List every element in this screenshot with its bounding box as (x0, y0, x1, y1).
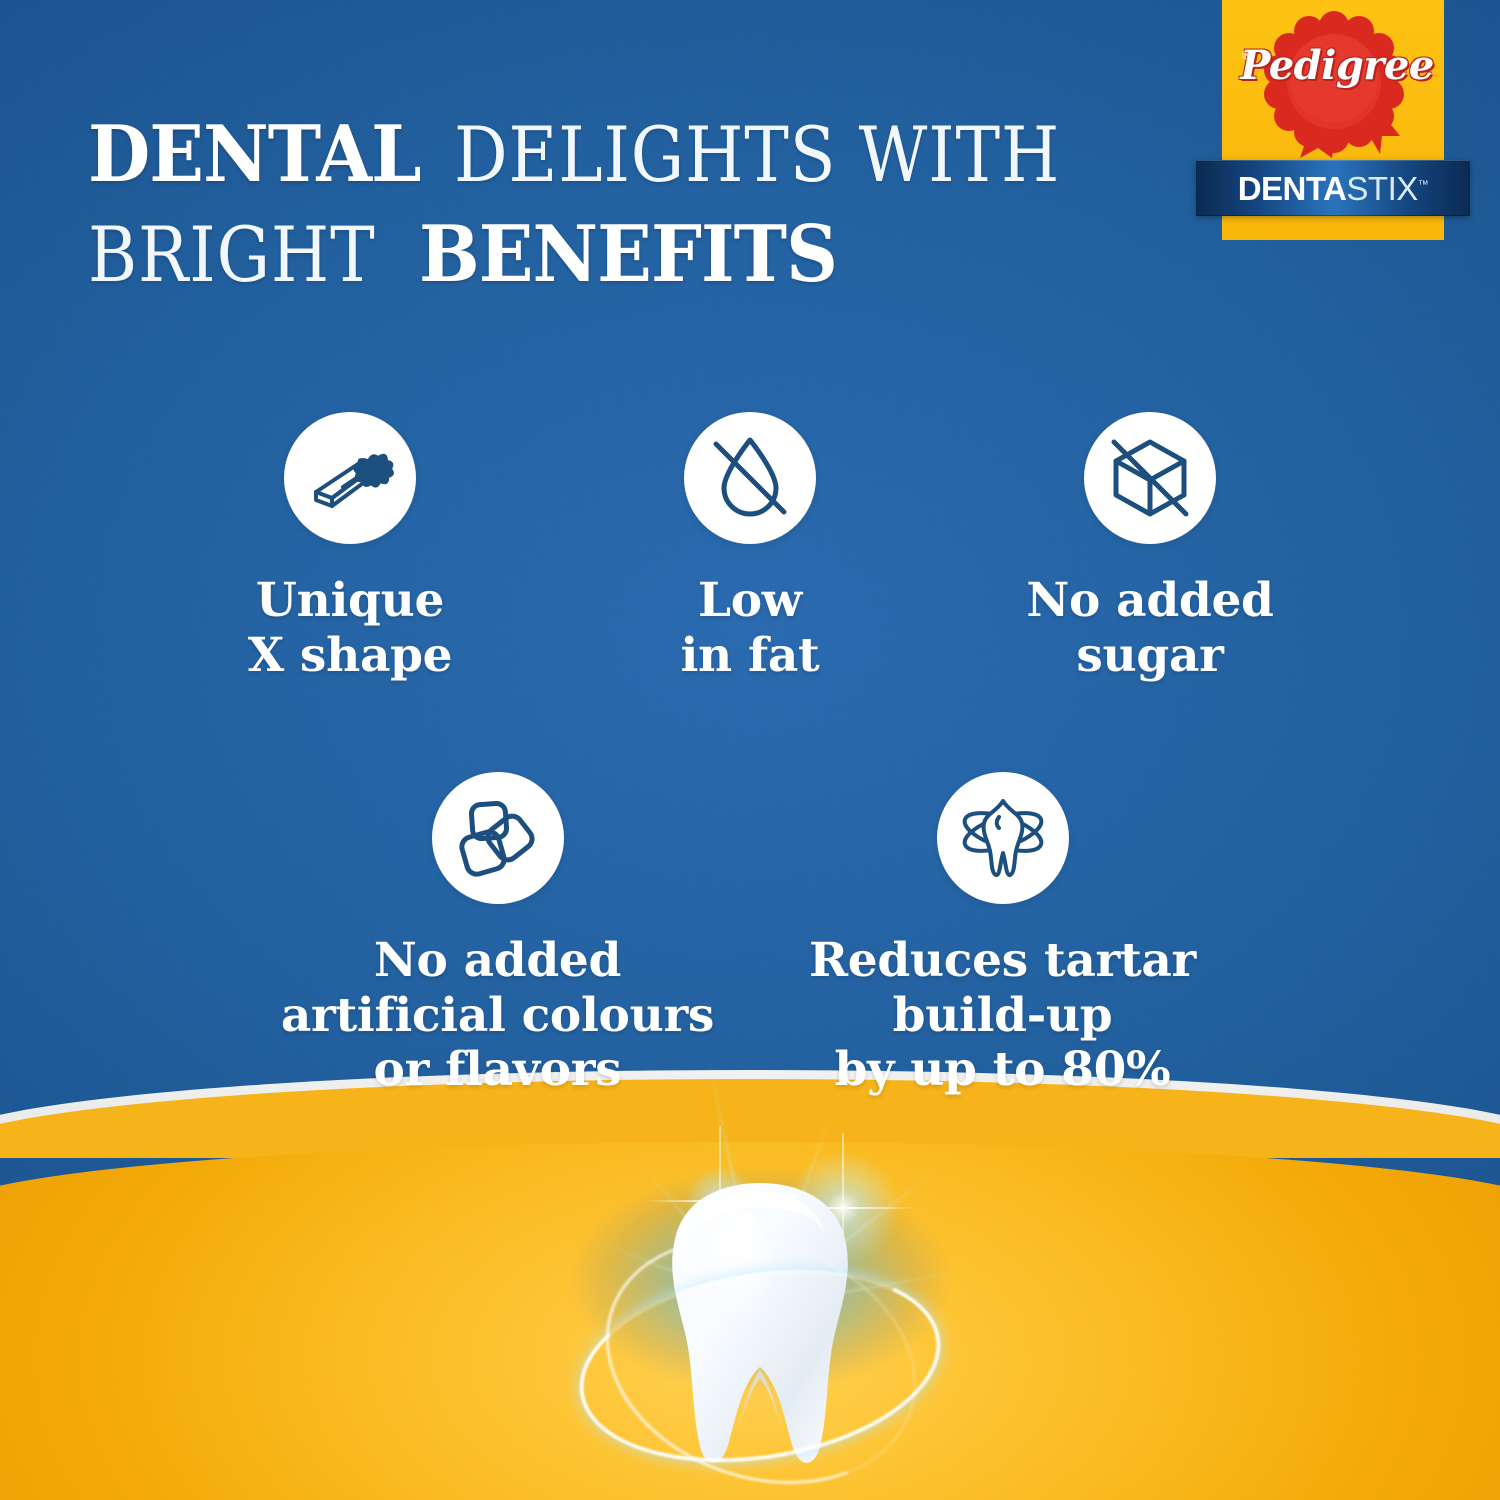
headline-word-dental: DENTAL (88, 118, 421, 192)
benefit-low-in-fat: Low in fat (550, 412, 950, 683)
headline-word-delights-with: DELIGHTS WITH (454, 119, 1060, 191)
no-artificial-colours-icon (432, 772, 564, 904)
headline-line-1: DENTAL DELIGHTS WITH (88, 118, 1148, 192)
pedigree-wordmark: Pedigree (1226, 46, 1448, 86)
benefit-label: No added artificial colours or flavors (281, 934, 714, 1098)
brand-lockup: Pedigree ® DENTASTIX™ (1222, 0, 1444, 240)
headline-word-benefits: BENEFITS (419, 218, 837, 292)
benefit-label: Low in fat (681, 574, 820, 683)
dentastix-benefits-poster: DENTAL DELIGHTS WITH BRIGHT BENEFITS (0, 0, 1500, 1500)
no-fat-droplet-icon (684, 412, 816, 544)
benefit-no-artificial-colours: No added artificial colours or flavors (245, 772, 750, 1098)
benefit-reduces-tartar: Reduces tartar build-up by up to 80% (750, 772, 1255, 1098)
benefit-label: Unique X shape (248, 574, 453, 683)
benefit-label: No added sugar (1026, 574, 1273, 683)
dentastix-logo-band: DENTASTIX™ (1196, 160, 1470, 216)
headline-word-bright: BRIGHT (88, 219, 376, 291)
trademark-mark: ™ (1418, 179, 1429, 191)
benefits-row-1: Unique X shape Low in fat No added s (0, 412, 1500, 683)
benefit-unique-x-shape: Unique X shape (150, 412, 550, 683)
dentastix-denta: DENTA (1238, 170, 1347, 207)
dentastix-stix: STIX (1346, 170, 1417, 207)
hero-tooth-graphic (560, 1155, 960, 1500)
dentastix-x-shape-icon (284, 412, 416, 544)
benefit-no-added-sugar: No added sugar (950, 412, 1350, 683)
dentastix-wordmark: DENTASTIX™ (1238, 172, 1429, 205)
registered-mark: ® (1242, 48, 1251, 62)
benefit-label: Reduces tartar build-up by up to 80% (809, 934, 1196, 1098)
headline-line-2: BRIGHT BENEFITS (88, 218, 1148, 292)
no-sugar-cube-icon (1084, 412, 1216, 544)
benefits-row-2: No added artificial colours or flavors R… (0, 772, 1500, 1098)
page-title: DENTAL DELIGHTS WITH BRIGHT BENEFITS (88, 118, 1148, 292)
tooth-shine-icon (937, 772, 1069, 904)
